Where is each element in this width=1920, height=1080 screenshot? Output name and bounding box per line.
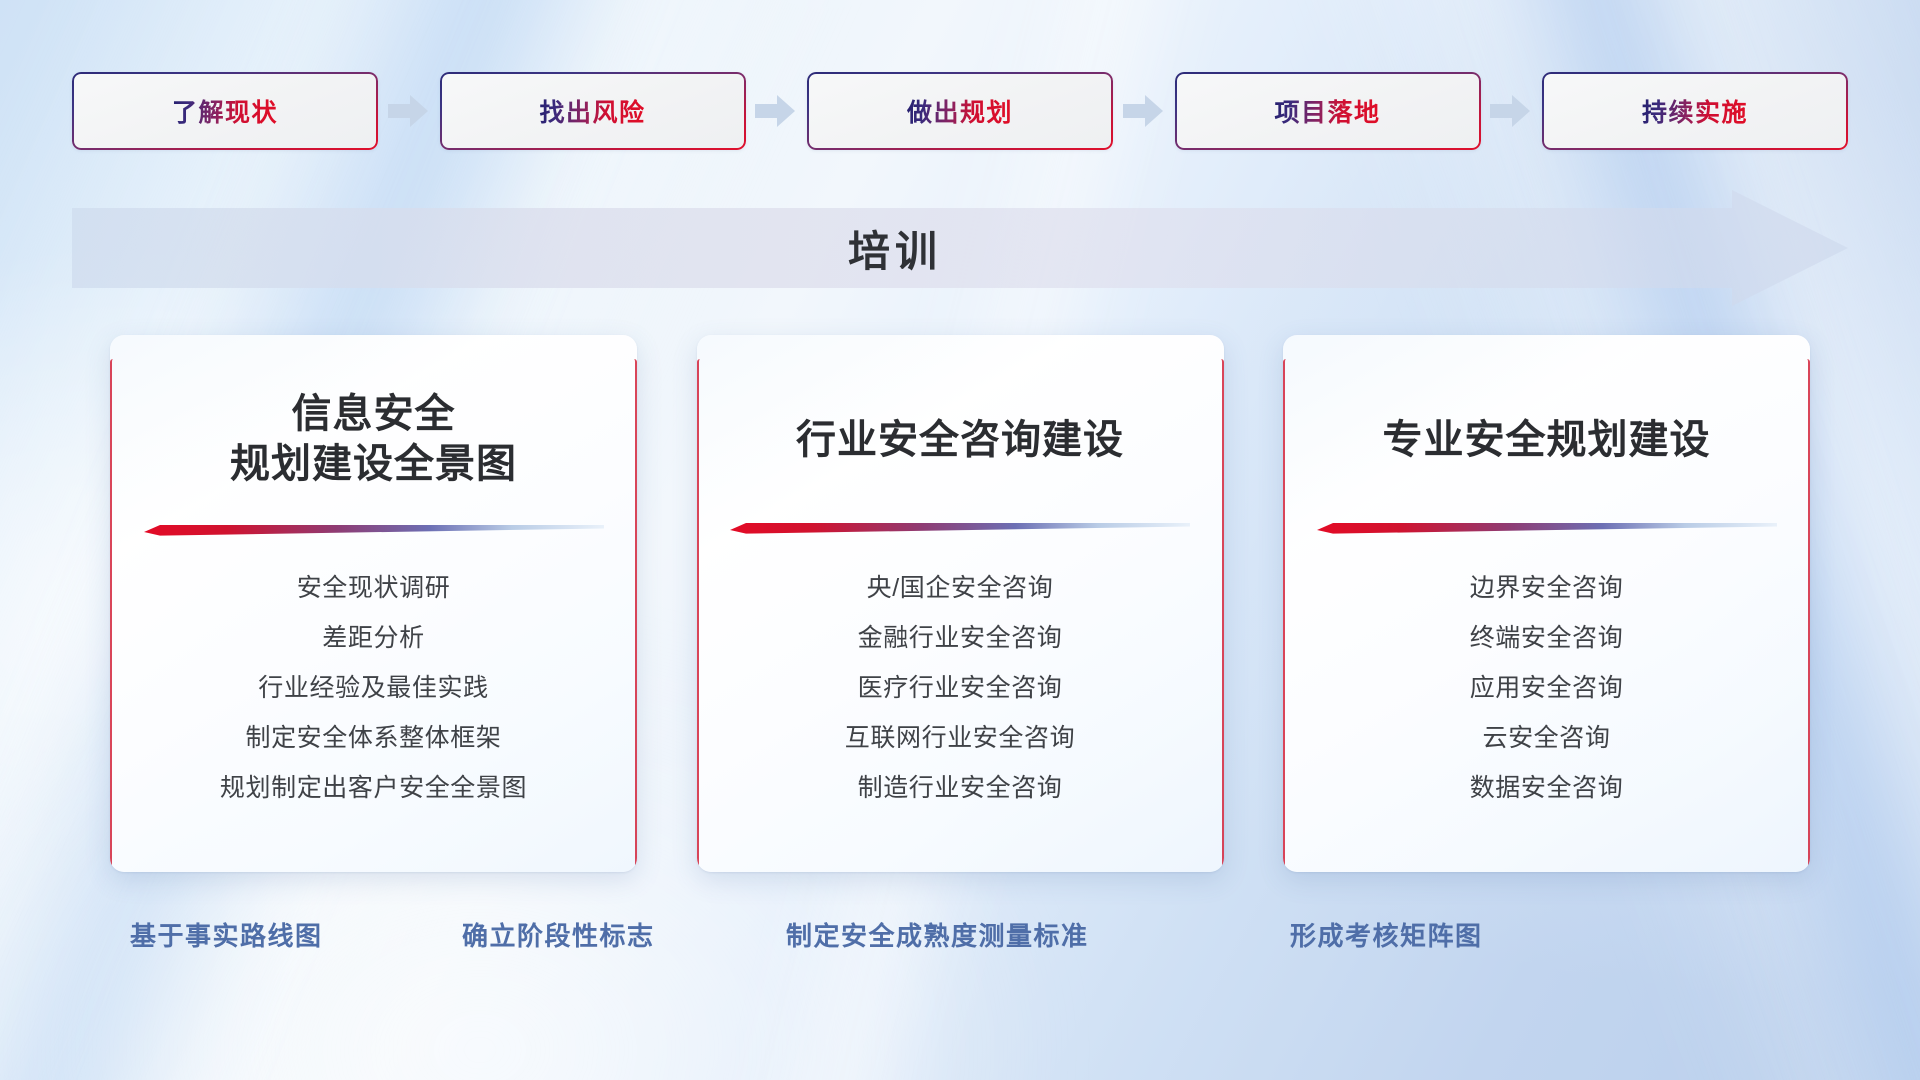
caption-row: 基于事实路线图 确立阶段性标志 制定安全成熟度测量标准 形成考核矩阵图 xyxy=(0,916,1920,960)
card-item-list: 安全现状调研 差距分析 行业经验及最佳实践 制定安全体系整体框架 规划制定出客户… xyxy=(136,564,611,814)
list-item: 规划制定出客户安全全景图 xyxy=(136,764,611,814)
list-item: 边界安全咨询 xyxy=(1309,564,1784,614)
card-professional-security-planning[interactable]: 专业安全规划建设 xyxy=(1283,335,1810,872)
step-label: 找出风险 xyxy=(539,93,645,129)
card-information-security[interactable]: 信息安全 规划建设全景图 xyxy=(110,335,637,872)
list-item: 制造行业安全咨询 xyxy=(723,764,1198,814)
arrow-right-icon xyxy=(753,93,799,129)
step-button-1[interactable]: 找出风险 xyxy=(440,72,746,150)
step-button-2[interactable]: 做出规划 xyxy=(807,72,1113,150)
list-item: 差距分析 xyxy=(136,614,611,664)
card-item-list: 央/国企安全咨询 金融行业安全咨询 医疗行业安全咨询 互联网行业安全咨询 制造行… xyxy=(723,564,1198,814)
card-title: 行业安全咨询建设 xyxy=(796,415,1124,465)
list-item: 应用安全咨询 xyxy=(1309,664,1784,714)
list-item: 行业经验及最佳实践 xyxy=(136,664,611,714)
caption-3: 形成考核矩阵图 xyxy=(1290,916,1483,953)
caption-1: 确立阶段性标志 xyxy=(462,916,655,953)
card-divider xyxy=(1317,521,1777,534)
step-label: 持续实施 xyxy=(1642,93,1748,129)
list-item: 数据安全咨询 xyxy=(1309,764,1784,814)
list-item: 制定安全体系整体框架 xyxy=(136,714,611,764)
arrow-right-icon xyxy=(1488,93,1534,129)
list-item: 云安全咨询 xyxy=(1309,714,1784,764)
card-item-list: 边界安全咨询 终端安全咨询 应用安全咨询 云安全咨询 数据安全咨询 xyxy=(1309,564,1784,814)
step-button-0[interactable]: 了解现状 xyxy=(72,72,378,150)
caption-0: 基于事实路线图 xyxy=(130,916,323,953)
list-item: 央/国企安全咨询 xyxy=(723,564,1198,614)
arrow-right-icon xyxy=(1121,93,1167,129)
card-divider xyxy=(144,523,604,536)
step-label: 项目落地 xyxy=(1274,93,1380,129)
step-button-4[interactable]: 持续实施 xyxy=(1542,72,1848,150)
process-step-row: 了解现状 找出风险 做出规划 项目落地 持续实施 xyxy=(72,72,1848,150)
card-title: 信息安全 规划建设全景图 xyxy=(230,389,517,489)
banner-title: 培训 xyxy=(72,190,1848,306)
step-label: 了解现状 xyxy=(172,93,278,129)
list-item: 互联网行业安全咨询 xyxy=(723,714,1198,764)
list-item: 安全现状调研 xyxy=(136,564,611,614)
card-row: 信息安全 规划建设全景图 xyxy=(110,335,1810,875)
list-item: 金融行业安全咨询 xyxy=(723,614,1198,664)
training-banner: 培训 xyxy=(72,190,1848,306)
card-industry-security-consulting[interactable]: 行业安全咨询建设 xyxy=(697,335,1224,872)
arrow-right-icon xyxy=(386,93,432,129)
list-item: 终端安全咨询 xyxy=(1309,614,1784,664)
card-title: 专业安全规划建设 xyxy=(1383,415,1711,465)
step-label: 做出规划 xyxy=(907,93,1013,129)
step-button-3[interactable]: 项目落地 xyxy=(1175,72,1481,150)
caption-2: 制定安全成熟度测量标准 xyxy=(786,916,1089,953)
card-divider xyxy=(730,521,1190,534)
list-item: 医疗行业安全咨询 xyxy=(723,664,1198,714)
